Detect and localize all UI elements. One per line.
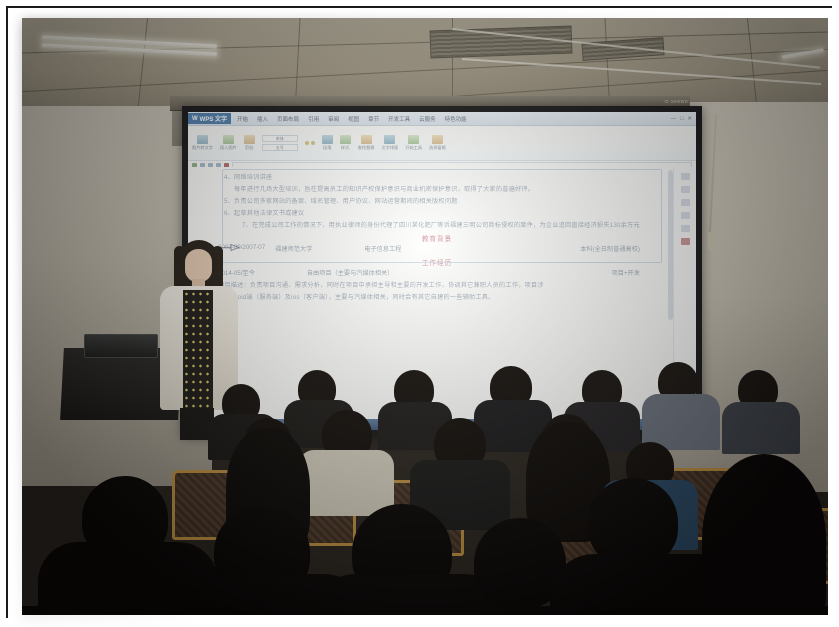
ribbon-text-layout[interactable]: 文字排版: [381, 135, 398, 151]
close-button[interactable]: ✕: [687, 116, 692, 122]
ribbon-paragraph[interactable]: 段落: [322, 135, 333, 151]
tab-start[interactable]: 开始: [237, 115, 248, 123]
window-controls[interactable]: — □ ✕: [671, 116, 696, 122]
paragraph-icon: [322, 135, 333, 144]
font-name-combo[interactable]: 宋体: [262, 135, 298, 142]
presenter-hair-left: [174, 246, 185, 290]
highlight-color-icon[interactable]: [305, 141, 309, 145]
frame-rule-top: [6, 6, 832, 8]
audience-long-hair-front: [702, 454, 826, 615]
presenter-hair-right: [212, 246, 223, 290]
photo-frame: ⬭ seewo W WPS 文字 开始 插入 页面布局 引用 审阅 视图: [0, 0, 839, 627]
comment-icon[interactable]: [681, 173, 690, 180]
tab-review[interactable]: 审阅: [328, 115, 339, 123]
ribbon-label: 样式: [341, 145, 349, 151]
ribbon-label: 开始工具: [405, 145, 422, 151]
tab-features[interactable]: 特色功能: [445, 115, 467, 123]
wps-ribbon[interactable]: 图片转文字 插入图片 剪贴 宋体 五号: [188, 126, 696, 161]
ribbon-label: 查找替换: [358, 145, 375, 151]
audience-body: [298, 450, 394, 516]
ribbon-label: 插入图片: [220, 145, 237, 151]
backup-icon[interactable]: [681, 238, 690, 245]
ribbon-find-replace[interactable]: 查找替换: [358, 135, 375, 151]
minimize-button[interactable]: —: [671, 116, 677, 122]
tab-chapter[interactable]: 章节: [368, 115, 379, 123]
highlighted-callout-box: [222, 169, 662, 263]
tab-insert[interactable]: 插入: [257, 115, 268, 123]
wps-logo: W WPS 文字: [188, 113, 231, 124]
wps-ribbon-tabs[interactable]: 开始 插入 页面布局 引用 审阅 视图 章节 开发工具 云服务 特色功能: [237, 115, 467, 123]
wps-app-name: WPS 文字: [200, 114, 227, 123]
ribbon-label: 剪贴: [245, 145, 253, 151]
tab-cloud[interactable]: 云服务: [419, 115, 436, 123]
ribbon-clipboard[interactable]: 剪贴: [244, 135, 255, 151]
tab-view[interactable]: 视图: [348, 115, 359, 123]
work-project: 自由项目（主要与汽媒体相关）: [307, 268, 394, 277]
ribbon-selection-pane[interactable]: 选择窗格: [429, 135, 446, 151]
presenter-dress: [183, 290, 213, 410]
ribbon-start-tools[interactable]: 开始工具: [405, 135, 422, 151]
style-icon[interactable]: [681, 225, 690, 232]
ruler-icon[interactable]: [681, 186, 690, 193]
ribbon-insert-picture[interactable]: 插入图片: [220, 135, 237, 151]
chapter-icon[interactable]: [681, 212, 690, 219]
lecture-hall-photograph: ⬭ seewo W WPS 文字 开始 插入 页面布局 引用 审阅 视图: [22, 18, 828, 615]
styles-icon: [340, 135, 351, 144]
navigation-icon[interactable]: [681, 199, 690, 206]
picture-to-text-icon: [197, 135, 208, 144]
presenter-face: [185, 249, 212, 282]
selection-pane-icon: [432, 135, 443, 144]
font-color-swatches[interactable]: [305, 141, 315, 145]
ceiling-grid-line: [137, 18, 148, 114]
clipboard-icon: [244, 135, 255, 144]
work-detail-line-2: 及android端（服务端）及ios（客户端），主要与汽媒体相关，同时会有其它自…: [218, 292, 670, 301]
frame-rule-left: [6, 6, 8, 618]
work-detail-line-1: 项目描述：负责项目沟通、需求分析，同时在项目中承担主导和主要的开发工作，协调其它…: [218, 280, 670, 289]
maximize-button[interactable]: □: [680, 116, 683, 122]
insert-picture-icon: [223, 135, 234, 144]
font-size-combo[interactable]: 五号: [262, 144, 298, 151]
ribbon-label: 图片转文字: [192, 145, 213, 151]
cord-weight: [708, 232, 714, 250]
interactive-whiteboard[interactable]: ⬭ seewo W WPS 文字 开始 插入 页面布局 引用 审阅 视图: [182, 106, 702, 436]
start-tools-icon: [408, 135, 419, 144]
tab-page-layout[interactable]: 页面布局: [277, 115, 299, 123]
find-replace-icon: [361, 135, 372, 144]
wps-title-bar: W WPS 文字 开始 插入 页面布局 引用 审阅 视图 章节 开发工具 云服务…: [188, 112, 696, 126]
wps-logo-mark: W: [192, 116, 198, 122]
work-row: 2014-05/至今 自由项目（主要与汽媒体相关） 项目+开发: [204, 268, 670, 277]
ribbon-picture-to-text[interactable]: 图片转文字: [192, 135, 213, 151]
font-color-icon[interactable]: [311, 141, 315, 145]
ribbon-label: 段落: [323, 145, 331, 151]
tab-developer[interactable]: 开发工具: [388, 115, 410, 123]
work-role: 项目+开发: [612, 268, 670, 277]
laptop: [84, 334, 158, 358]
ribbon-styles[interactable]: 样式: [340, 135, 351, 151]
audience-body: [722, 402, 800, 454]
text-layout-icon: [384, 135, 395, 144]
ribbon-label: 选择窗格: [429, 145, 446, 151]
foreground-shadow: [22, 606, 828, 615]
tab-references[interactable]: 引用: [308, 115, 319, 123]
audience-head-front: [588, 478, 678, 566]
whiteboard-brand-logo: ⬭ seewo: [664, 99, 688, 105]
ribbon-label: 文字排版: [381, 145, 398, 151]
font-controls[interactable]: 宋体 五号: [262, 135, 298, 151]
air-vent: [430, 26, 573, 59]
